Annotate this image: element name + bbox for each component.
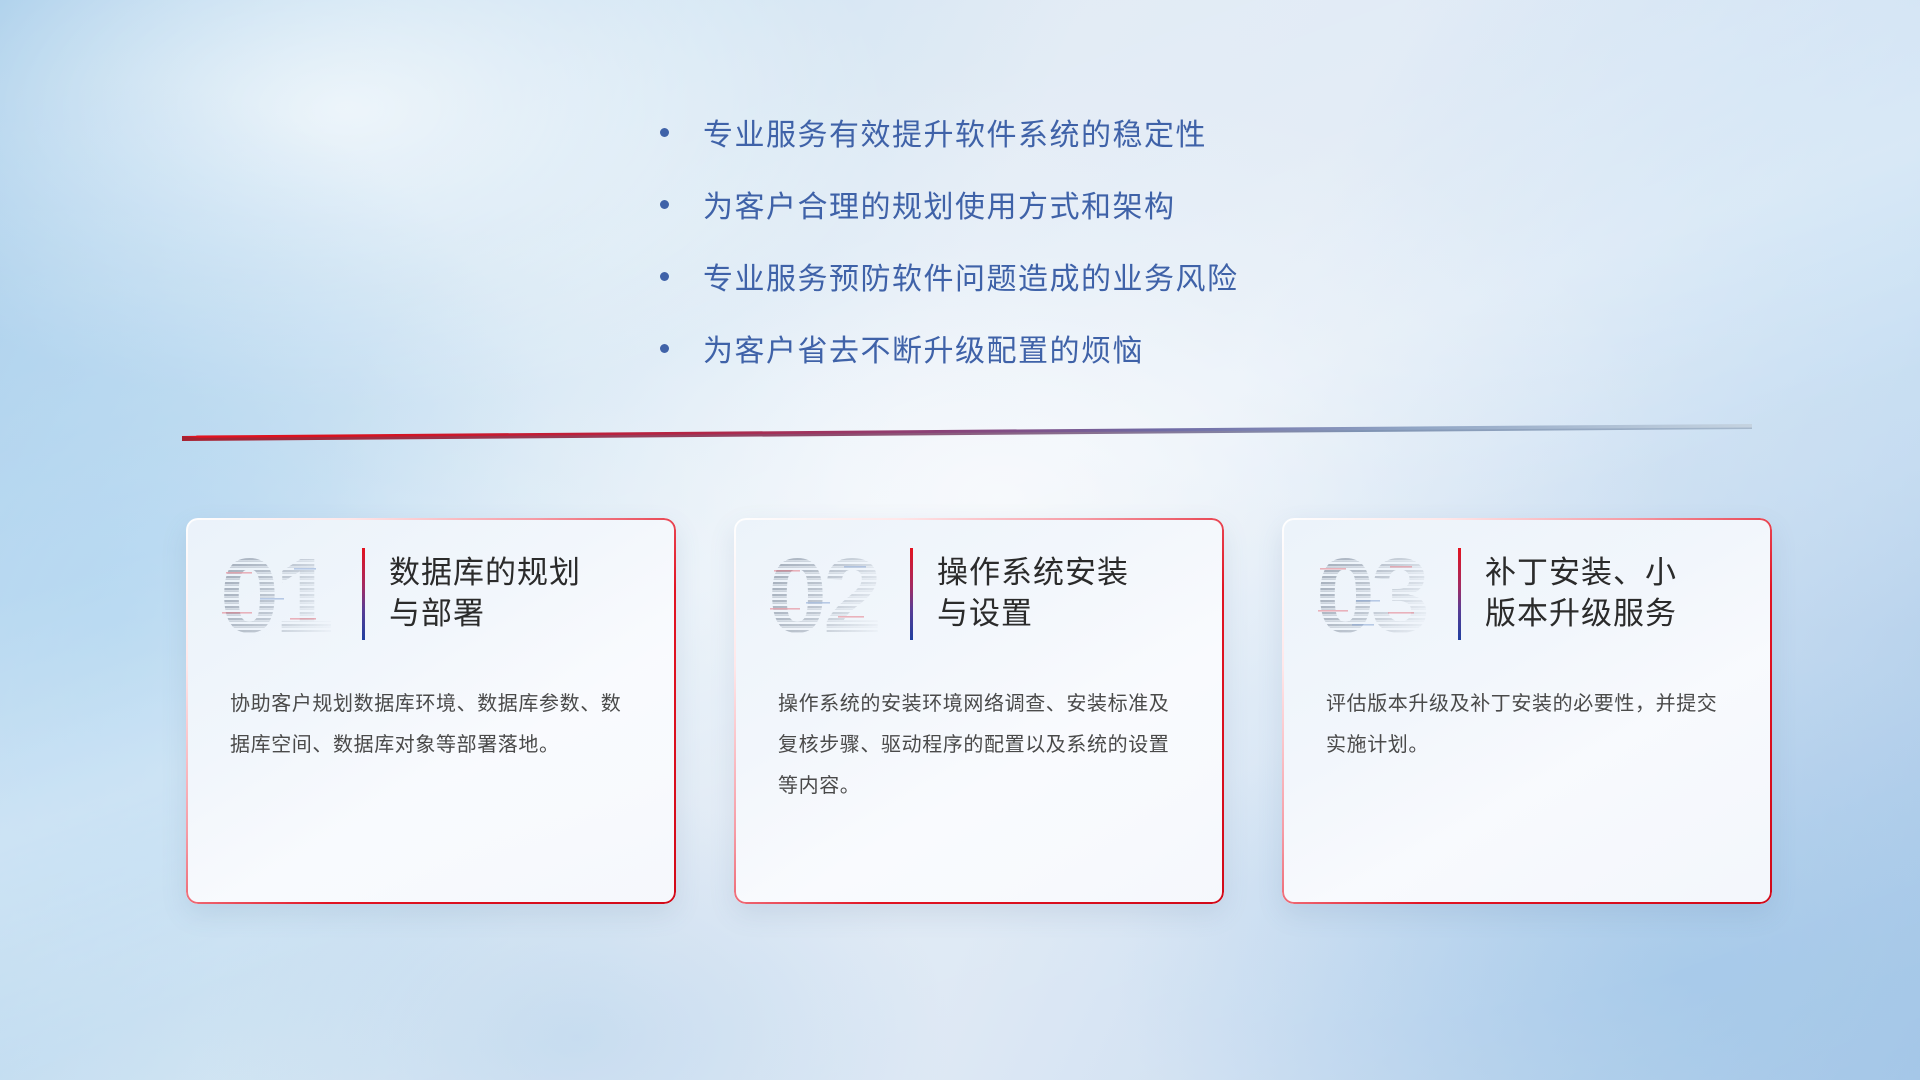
- card-number-graphic: 01: [220, 546, 354, 642]
- card-header: 02 操作系统安装 与设置: [734, 518, 1224, 670]
- feature-card-row: 01 数据库的规划 与部署 协助客户规划数据库环境、数据库参数、数据库空: [186, 518, 1772, 904]
- bullet-list: 专业服务有效提升软件系统的稳定性 为客户合理的规划使用方式和架构 专业服务预防软…: [660, 110, 1239, 370]
- bullet-dot-icon: [660, 200, 669, 209]
- card-header: 01 数据库的规划 与部署: [186, 518, 676, 670]
- card-description: 协助客户规划数据库环境、数据库参数、数据库空间、数据库对象等部署落地。: [186, 670, 676, 766]
- bullet-dot-icon: [660, 128, 669, 137]
- feature-card[interactable]: 02 操作系统安装 与设置 操作系统的安装环境网络调查、安装标准及复核步: [734, 518, 1224, 904]
- bullet-item: 专业服务有效提升软件系统的稳定性: [660, 110, 1239, 154]
- card-description: 操作系统的安装环境网络调查、安装标准及复核步骤、驱动程序的配置以及系统的设置等内…: [734, 670, 1224, 807]
- bullet-text: 专业服务预防软件问题造成的业务风险: [703, 254, 1239, 298]
- svg-text:01: 01: [220, 546, 331, 642]
- card-number-graphic: 03: [1316, 546, 1450, 642]
- card-header: 03 补丁安装、小 版本升级服务: [1282, 518, 1772, 670]
- card-accent-rule: [1458, 548, 1461, 640]
- card-number-graphic: 02: [768, 546, 902, 642]
- card-description: 评估版本升级及补丁安装的必要性，并提交实施计划。: [1282, 670, 1772, 766]
- bullet-text: 为客户合理的规划使用方式和架构: [703, 182, 1176, 226]
- bullet-dot-icon: [660, 272, 669, 281]
- feature-card[interactable]: 03 补丁安装、小 版本升级服务 评估版本: [1282, 518, 1772, 904]
- bullet-item: 专业服务预防软件问题造成的业务风险: [660, 254, 1239, 298]
- bullet-text: 为客户省去不断升级配置的烦恼: [703, 326, 1144, 370]
- card-title: 操作系统安装 与设置: [937, 553, 1129, 635]
- slide-canvas: 专业服务有效提升软件系统的稳定性 为客户合理的规划使用方式和架构 专业服务预防软…: [0, 0, 1920, 1080]
- section-divider: [182, 424, 1752, 442]
- card-accent-rule: [362, 548, 365, 640]
- card-title: 补丁安装、小 版本升级服务: [1485, 553, 1677, 635]
- bullet-item: 为客户合理的规划使用方式和架构: [660, 182, 1239, 226]
- section-divider-shape: [182, 424, 1752, 442]
- bullet-dot-icon: [660, 344, 669, 353]
- feature-card[interactable]: 01 数据库的规划 与部署 协助客户规划数据库环境、数据库参数、数据库空: [186, 518, 676, 904]
- card-number-02-icon: 02: [768, 546, 902, 642]
- svg-text:02: 02: [768, 546, 878, 642]
- bullet-item: 为客户省去不断升级配置的烦恼: [660, 326, 1239, 370]
- card-title: 数据库的规划 与部署: [389, 553, 581, 635]
- card-accent-rule: [910, 548, 913, 640]
- card-number-03-icon: 03: [1316, 546, 1450, 642]
- card-number-01-icon: 01: [220, 546, 354, 642]
- bullet-text: 专业服务有效提升软件系统的稳定性: [703, 110, 1207, 154]
- svg-text:03: 03: [1316, 546, 1427, 642]
